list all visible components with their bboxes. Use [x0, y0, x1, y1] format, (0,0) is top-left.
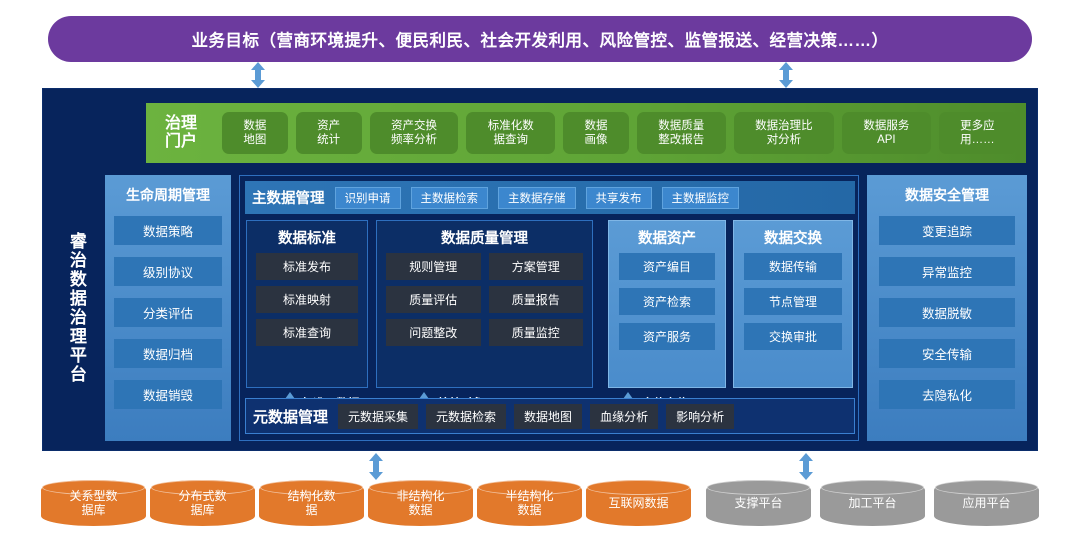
master-data-title: 主数据管理 — [252, 187, 325, 208]
da-item-asset-service[interactable]: 资产服务 — [619, 323, 715, 350]
datasource-line1: 分布式数 — [178, 489, 226, 503]
portal-item-line1: 资产 — [317, 119, 340, 133]
platform-processing[interactable]: 加工平台 — [820, 480, 925, 526]
platform-line1: 应用平台 — [962, 496, 1010, 510]
portal-item-quality-rectification-report[interactable]: 数据质量整改报告 — [637, 112, 726, 154]
portal-item-line2: 整改报告 — [658, 133, 704, 147]
datasource-distributed-db[interactable]: 分布式数 据库 — [150, 480, 255, 526]
sec-item-anomaly-monitoring[interactable]: 异常监控 — [879, 257, 1015, 286]
datasource-line2: 据库 — [81, 503, 105, 517]
datasource-line2: 据库 — [190, 503, 214, 517]
portal-item-data-service-api[interactable]: 数据服务API — [842, 112, 931, 154]
de-item-data-transfer[interactable]: 数据传输 — [744, 253, 842, 280]
datasource-semi-structured-data[interactable]: 半结构化 数据 — [477, 480, 582, 526]
portal-item-line2: 对分析 — [755, 133, 813, 147]
portal-item-line1: 数据质量 — [658, 119, 704, 133]
datasource-structured-data[interactable]: 结构化数 据 — [259, 480, 364, 526]
datasource-line1: 关系型数 — [69, 489, 117, 503]
portal-title-line2: 门户 — [152, 133, 210, 151]
datasource-line2: 数据 — [517, 503, 541, 517]
dq-item-quality-assessment[interactable]: 质量评估 — [386, 286, 481, 313]
datasource-internet-data[interactable]: 互联网数据 — [586, 480, 691, 526]
dq-item-quality-report[interactable]: 质量报告 — [489, 286, 584, 313]
governance-portal-title: 治理 门户 — [152, 115, 210, 152]
datasource-label: 非结构化 数据 — [392, 489, 448, 518]
portal-item-line1: 资产交换 — [391, 119, 437, 133]
sec-item-de-privatization[interactable]: 去隐私化 — [879, 380, 1015, 409]
ds-item-standard-mapping[interactable]: 标准映射 — [256, 286, 358, 313]
mdm-item-master-data-storage[interactable]: 主数据存储 — [498, 187, 576, 209]
portal-item-data-profiling[interactable]: 数据画像 — [563, 112, 629, 154]
portal-item-line1: 数据治理比 — [755, 119, 813, 133]
data-exchange-block: 数据交换 数据传输 节点管理 交换审批 — [733, 220, 853, 388]
data-standard-block: 数据标准 标准发布 标准映射 标准查询 — [246, 220, 368, 388]
lifecycle-management-column: 生命周期管理 数据策略 级别协议 分类评估 数据归档 数据销毁 — [105, 175, 231, 441]
lifecycle-item-data-strategy[interactable]: 数据策略 — [114, 216, 222, 245]
datasource-label: 关系型数 据库 — [65, 489, 121, 518]
portal-item-line1: 数据服务 — [863, 119, 909, 133]
metadata-management-bar: 元数据管理 元数据采集 元数据检索 数据地图 血缘分析 影响分析 — [245, 398, 855, 434]
de-item-node-management[interactable]: 节点管理 — [744, 288, 842, 315]
data-asset-block: 数据资产 资产编目 资产检索 资产服务 — [608, 220, 726, 388]
portal-item-asset-exchange-frequency[interactable]: 资产交换频率分析 — [370, 112, 459, 154]
portal-item-line1: 标准化数 — [488, 119, 534, 133]
portal-item-line2: API — [863, 133, 909, 147]
datasource-line1: 非结构化 — [396, 489, 444, 503]
meta-item-data-map[interactable]: 数据地图 — [514, 404, 582, 429]
mdm-item-master-data-monitoring[interactable]: 主数据监控 — [662, 187, 740, 209]
platform-label: 应用平台 — [958, 496, 1014, 510]
datasource-line1: 半结构化 — [505, 489, 553, 503]
dq-item-quality-monitoring[interactable]: 质量监控 — [489, 319, 584, 346]
datasource-relational-db[interactable]: 关系型数 据库 — [41, 480, 146, 526]
portal-item-more-apps[interactable]: 更多应用…… — [939, 112, 1016, 154]
data-quality-block: 数据质量管理 规则管理 方案管理 质量评估 质量报告 问题整改 质量监控 — [376, 220, 593, 388]
center-region: 主数据管理 识别申请 主数据检索 主数据存储 共享发布 主数据监控 数据标准 标… — [239, 175, 859, 441]
portal-item-line1: 数据 — [585, 119, 608, 133]
lifecycle-item-data-archiving[interactable]: 数据归档 — [114, 339, 222, 368]
portal-item-line2: 用…… — [960, 133, 995, 147]
dq-item-issue-rectification[interactable]: 问题整改 — [386, 319, 481, 346]
data-security-title: 数据安全管理 — [879, 185, 1015, 205]
datasource-label: 半结构化 数据 — [501, 489, 557, 518]
datasource-line2: 数据 — [408, 503, 432, 517]
platform-application[interactable]: 应用平台 — [934, 480, 1039, 526]
arrow-banner-left — [250, 62, 266, 88]
mdm-item-master-data-search[interactable]: 主数据检索 — [411, 187, 489, 209]
meta-item-impact-analysis[interactable]: 影响分析 — [666, 404, 734, 429]
meta-item-metadata-search[interactable]: 元数据检索 — [426, 404, 506, 429]
datasource-label: 结构化数 据 — [283, 489, 339, 518]
portal-item-line2: 地图 — [243, 133, 266, 147]
mdm-item-share-publish[interactable]: 共享发布 — [586, 187, 652, 209]
governance-portal-strip: 治理 门户 数据地图 资产统计 资产交换频率分析 标准化数据查询 数据画像 数据… — [146, 103, 1026, 163]
data-standard-title: 数据标准 — [250, 227, 364, 248]
portal-item-line1: 更多应 — [960, 119, 995, 133]
ds-item-standard-publish[interactable]: 标准发布 — [256, 253, 358, 280]
data-security-column: 数据安全管理 变更追踪 异常监控 数据脱敏 安全传输 去隐私化 — [867, 175, 1027, 441]
meta-item-metadata-collection[interactable]: 元数据采集 — [338, 404, 418, 429]
data-quality-title: 数据质量管理 — [380, 227, 589, 248]
metadata-title: 元数据管理 — [253, 406, 328, 427]
sec-item-secure-transfer[interactable]: 安全传输 — [879, 339, 1015, 368]
datasource-line1: 互联网数据 — [608, 496, 668, 510]
da-item-asset-catalog[interactable]: 资产编目 — [619, 253, 715, 280]
sec-item-data-masking[interactable]: 数据脱敏 — [879, 298, 1015, 327]
platform-line1: 支撑平台 — [734, 496, 782, 510]
portal-item-line2: 统计 — [317, 133, 340, 147]
datasource-line1: 结构化数 — [287, 489, 335, 503]
platform-label: 支撑平台 — [730, 496, 786, 510]
portal-item-line2: 画像 — [585, 133, 608, 147]
portal-item-standardized-query[interactable]: 标准化数据查询 — [466, 112, 555, 154]
platform-line1: 加工平台 — [848, 496, 896, 510]
ds-item-standard-query[interactable]: 标准查询 — [256, 319, 358, 346]
datasource-label: 互联网数据 — [604, 496, 672, 510]
portal-title-line1: 治理 — [152, 115, 210, 133]
sec-item-change-tracking[interactable]: 变更追踪 — [879, 216, 1015, 245]
business-goal-banner: 业务目标（营商环境提升、便民利民、社会开发利用、风险管控、监管报送、经营决策……… — [48, 16, 1032, 62]
data-exchange-title: 数据交换 — [737, 227, 849, 248]
da-item-asset-search[interactable]: 资产检索 — [619, 288, 715, 315]
arrow-platforms — [798, 453, 814, 480]
portal-item-line2: 据查询 — [488, 133, 534, 147]
mdm-item-identification-request[interactable]: 识别申请 — [335, 187, 401, 209]
main-panel: 治理 门户 数据地图 资产统计 资产交换频率分析 标准化数据查询 数据画像 数据… — [42, 88, 1038, 451]
business-goal-text: 业务目标（营商环境提升、便民利民、社会开发利用、风险管控、监管报送、经营决策……… — [192, 27, 889, 51]
portal-item-data-map[interactable]: 数据地图 — [222, 112, 288, 154]
master-data-management-bar: 主数据管理 识别申请 主数据检索 主数据存储 共享发布 主数据监控 — [245, 181, 855, 214]
portal-item-asset-statistics[interactable]: 资产统计 — [296, 112, 362, 154]
lifecycle-item-level-agreement[interactable]: 级别协议 — [114, 257, 222, 286]
portal-item-line2: 频率分析 — [391, 133, 437, 147]
arrow-datasources — [368, 453, 384, 480]
arrow-banner-right — [778, 62, 794, 88]
datasource-label: 分布式数 据库 — [174, 489, 230, 518]
lifecycle-item-data-destruction[interactable]: 数据销毁 — [114, 380, 222, 409]
datasource-line2: 据 — [305, 503, 317, 517]
lifecycle-title: 生命周期管理 — [114, 185, 222, 205]
de-item-exchange-approval[interactable]: 交换审批 — [744, 323, 842, 350]
datasource-unstructured-data[interactable]: 非结构化 数据 — [368, 480, 473, 526]
platform-vertical-label: 睿治数据治理平台 — [53, 175, 99, 441]
portal-item-governance-comparison[interactable]: 数据治理比对分析 — [734, 112, 834, 154]
platform-label: 加工平台 — [844, 496, 900, 510]
architecture-diagram: 业务目标（营商环境提升、便民利民、社会开发利用、风险管控、监管报送、经营决策……… — [0, 0, 1080, 551]
dq-item-rule-management[interactable]: 规则管理 — [386, 253, 481, 280]
portal-item-line1: 数据 — [243, 119, 266, 133]
data-asset-title: 数据资产 — [612, 227, 722, 248]
dq-item-plan-management[interactable]: 方案管理 — [489, 253, 584, 280]
platform-support[interactable]: 支撑平台 — [706, 480, 811, 526]
lifecycle-item-classification-assessment[interactable]: 分类评估 — [114, 298, 222, 327]
meta-item-lineage-analysis[interactable]: 血缘分析 — [590, 404, 658, 429]
